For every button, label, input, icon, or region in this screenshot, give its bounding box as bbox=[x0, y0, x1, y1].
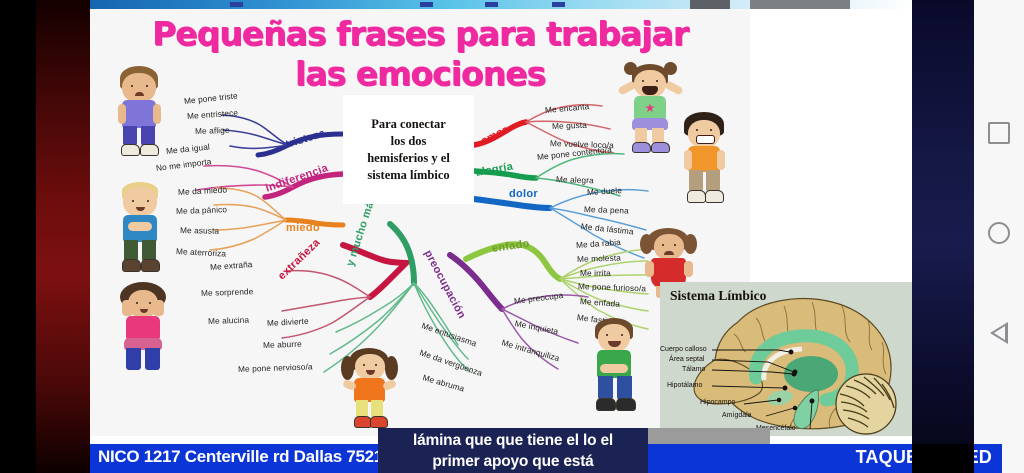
leaf-label: Me alegra bbox=[556, 174, 594, 185]
center-text-box: Para conectar los dos hemisferios y el s… bbox=[343, 95, 474, 204]
brain-label: Hipotálamo bbox=[667, 382, 702, 389]
center-box-line-2: los dos bbox=[391, 134, 427, 148]
leaf-label: Me da pánico bbox=[176, 204, 227, 216]
left-black-bezel bbox=[0, 0, 36, 473]
android-navigation-bar bbox=[974, 0, 1024, 473]
leaf-label: Me molesta bbox=[577, 252, 621, 264]
slide-top-decor-strip bbox=[90, 0, 912, 9]
leaf-label: Me alucina bbox=[208, 315, 249, 326]
character-green-shirt-boy bbox=[584, 318, 646, 414]
center-box-line-3: hemisferios y el bbox=[367, 151, 450, 165]
caption-line-1: lámina que que tiene el lo el bbox=[413, 430, 613, 451]
character-scared-boy bbox=[110, 182, 170, 274]
leaf-label: Me sorprende bbox=[201, 286, 254, 298]
leaf-label: Me irrita bbox=[580, 268, 611, 278]
limbic-system-diagram: Sistema Límbico bbox=[660, 282, 912, 436]
branch-label-miedo: miedo bbox=[286, 222, 320, 234]
circle-home-icon[interactable] bbox=[988, 222, 1010, 244]
right-navy-gradient-strip bbox=[912, 0, 974, 473]
device-screen: Pequeñas frases para trabajar las emocio… bbox=[0, 0, 1024, 473]
branch-label-dolor: dolor bbox=[509, 188, 538, 200]
character-sad-boy bbox=[108, 66, 170, 158]
brain-label: Amígdala bbox=[722, 412, 752, 419]
leaf-label: Me gusta bbox=[552, 120, 587, 131]
character-orange-shirt-boy bbox=[674, 112, 736, 206]
brain-label: Cuerpo calloso bbox=[660, 346, 707, 353]
leaf-label: Me asusta bbox=[180, 225, 219, 236]
bottom-gray-strip bbox=[648, 428, 770, 444]
subtitle-caption-overlay: lámina que que tiene el lo el primer apo… bbox=[378, 428, 648, 473]
center-box-line-1: Para conectar bbox=[371, 117, 446, 131]
triangle-back-icon[interactable] bbox=[990, 322, 1008, 344]
leaf-label: Me aburre bbox=[263, 339, 302, 350]
banner-left-text: NICO 1217 Centerville rd Dallas 75218 bbox=[98, 447, 392, 467]
slide-image: Pequeñas frases para trabajar las emocio… bbox=[90, 0, 912, 444]
leaf-label: Me duele bbox=[587, 185, 622, 197]
leaf-label: Me aflige bbox=[195, 125, 230, 136]
bottom-right-black-stub bbox=[912, 444, 974, 473]
caption-line-2: primer apoyo que está bbox=[432, 451, 593, 472]
brain-label: Tálamo bbox=[682, 366, 705, 373]
character-orange-dress-girl bbox=[338, 348, 402, 432]
brain-label: Hipocampo bbox=[700, 399, 735, 406]
center-box-line-4: sistema límbico bbox=[367, 168, 449, 182]
brain-label: Área septal bbox=[669, 356, 704, 363]
character-crying-girl bbox=[112, 282, 174, 376]
square-recents-icon[interactable] bbox=[988, 122, 1010, 144]
leaf-label: Me da pena bbox=[584, 204, 629, 216]
left-red-gradient-strip bbox=[36, 0, 90, 473]
